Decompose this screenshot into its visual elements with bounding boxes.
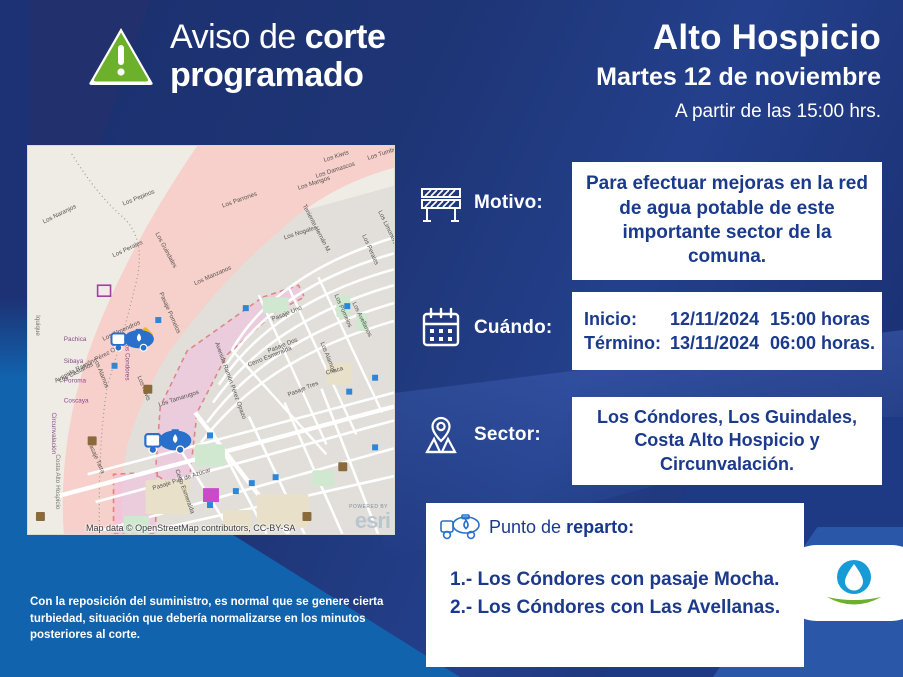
event-header: Alto Hospicio Martes 12 de noviembre A p…: [596, 18, 881, 123]
esri-logo: esri: [355, 510, 390, 532]
warning-triangle-exclamation-icon: [88, 26, 154, 86]
water-tanker-truck-icon: [440, 514, 482, 540]
reparto-title-plain: Punto de: [489, 517, 566, 537]
svg-text:Costa Alto Hospicio: Costa Alto Hospicio: [54, 454, 61, 510]
sector-map[interactable]: Los Pepinos Los Parrones Los Perales Los…: [27, 145, 395, 535]
svg-text:Pachica: Pachica: [64, 336, 87, 343]
company-logo-container: [779, 545, 903, 621]
reparto-title-bold: reparto:: [566, 517, 634, 537]
event-date: Martes 12 de noviembre: [596, 63, 881, 92]
schedule-end-time: 06:00 horas.: [770, 331, 875, 355]
schedule-end-key: Término:: [584, 331, 670, 355]
city-title: Alto Hospicio: [596, 18, 881, 58]
info-row-sector: Sector:: [418, 412, 541, 458]
punto-de-reparto-card: Punto de reparto: 1.- Los Cóndores con p…: [426, 503, 804, 667]
reparto-list: 1.- Los Cóndores con pasaje Mocha. 2.- L…: [426, 540, 804, 621]
map-location-pin-icon: [418, 412, 464, 458]
schedule-end-line: Término: 13/11/2024 06:00 horas.: [584, 331, 875, 355]
map-attribution: Map data © OpenStreetMap contributors, C…: [28, 523, 394, 533]
list-item: 1.- Los Cóndores con pasaje Mocha.: [450, 566, 804, 594]
svg-text:Iquique: Iquique: [34, 315, 41, 336]
info-label-cuando: Cuándo:: [474, 317, 552, 339]
info-card-sector: Los Cóndores, Los Guindales, Costa Alto …: [572, 397, 882, 485]
alert-line1-plain: Aviso de: [170, 18, 305, 56]
schedule-start-time: 15:00 horas: [770, 307, 870, 331]
background-left-edge-strip: [0, 0, 30, 677]
svg-text:Circunvalación: Circunvalación: [50, 413, 57, 455]
info-card-motivo: Para efectuar mejoras en la red de agua …: [572, 162, 882, 280]
svg-text:Sibaya: Sibaya: [64, 358, 84, 365]
info-row-cuando: Cuándo:: [418, 305, 552, 351]
alert-banner: Aviso de corte programado: [88, 20, 385, 92]
punto-de-reparto-header: Punto de reparto:: [426, 503, 804, 540]
road-barrier-icon: [418, 180, 464, 226]
map-canvas: Los Pepinos Los Parrones Los Perales Los…: [28, 146, 394, 534]
info-card-cuando: Inicio: 12/11/2024 15:00 horas Término: …: [572, 292, 882, 370]
event-start-note: A partir de las 15:00 hrs.: [596, 101, 881, 123]
info-label-sector: Sector:: [474, 424, 541, 446]
alert-line1-bold: corte: [305, 18, 386, 56]
schedule-start-line: Inicio: 12/11/2024 15:00 horas: [584, 307, 870, 331]
sector-text: Los Cóndores, Los Guindales, Costa Alto …: [582, 406, 872, 476]
alert-line2: programado: [170, 58, 385, 92]
schedule-start-date: 12/11/2024: [670, 307, 770, 331]
list-item: 2.- Los Cóndores con Las Avellanas.: [450, 594, 804, 622]
svg-text:Los Condores: Los Condores: [123, 341, 130, 381]
outage-notice-poster: Aviso de corte programado Alto Hospicio …: [0, 0, 903, 677]
svg-text:Coscaya: Coscaya: [64, 398, 89, 405]
motivo-text: Para efectuar mejoras en la red de agua …: [586, 172, 868, 269]
calendar-icon: [418, 305, 464, 351]
schedule-start-key: Inicio:: [584, 307, 670, 331]
info-row-motivo: Motivo:: [418, 180, 543, 226]
svg-text:Poroma: Poroma: [64, 378, 87, 385]
info-label-motivo: Motivo:: [474, 192, 543, 214]
schedule-end-date: 13/11/2024: [670, 331, 770, 355]
disclaimer-text: Con la reposición del suministro, es nor…: [30, 594, 400, 644]
water-drop-leaf-logo: [824, 557, 884, 609]
